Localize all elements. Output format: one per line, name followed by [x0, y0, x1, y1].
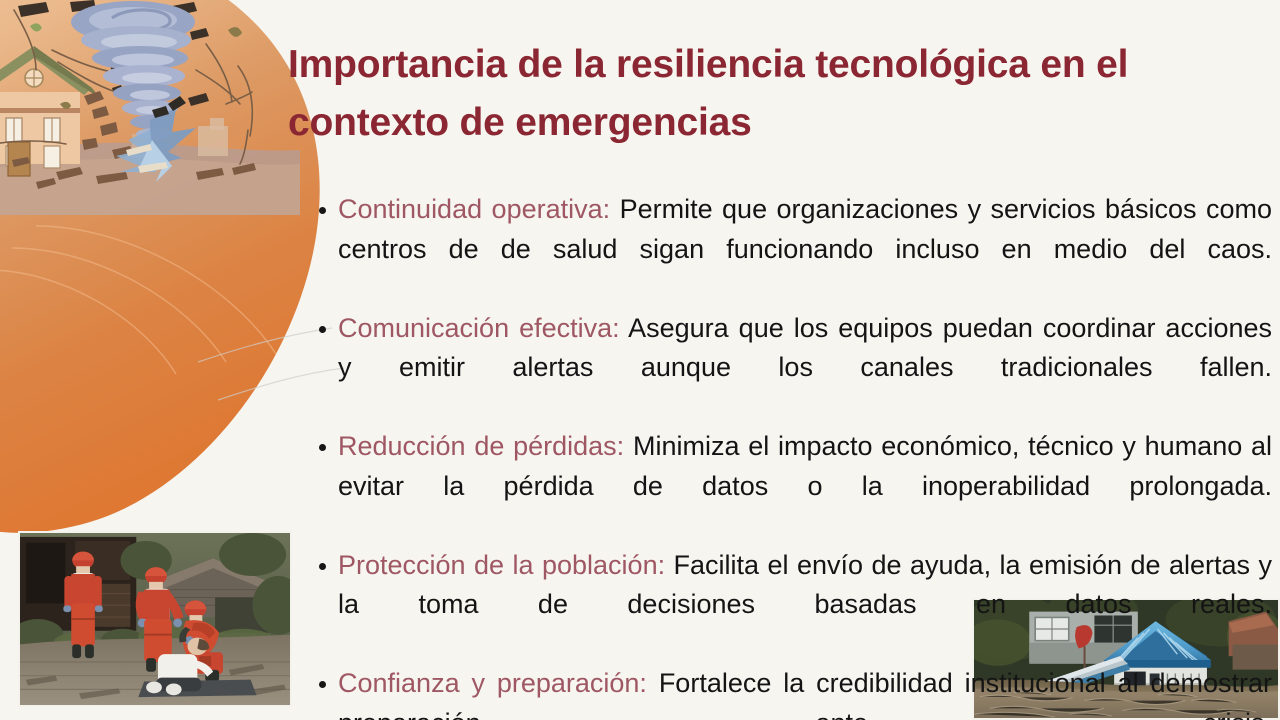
bullet-lead: Confianza y preparación:	[338, 668, 647, 698]
bullet-lead: Protección de la población:	[338, 550, 665, 580]
bullet-item: Protección de la población: Facilita el …	[316, 546, 1272, 665]
bullet-list: Continuidad operativa: Permite que organ…	[316, 190, 1272, 720]
bullet-lead: Reducción de pérdidas:	[338, 431, 624, 461]
presentation-slide: Importancia de la resiliencia tecnológic…	[0, 0, 1280, 720]
bullet-item: Comunicación efectiva: Asegura que los e…	[316, 309, 1272, 428]
bullet-lead: Comunicación efectiva:	[338, 313, 620, 343]
bullet-item: Continuidad operativa: Permite que organ…	[316, 190, 1272, 309]
bullet-item: Confianza y preparación: Fortalece la cr…	[316, 664, 1272, 720]
slide-title: Importancia de la resiliencia tecnológic…	[288, 36, 1268, 152]
tornado-destroying-house-illustration	[0, 0, 300, 215]
bullet-lead: Continuidad operativa:	[338, 194, 610, 224]
bullet-item: Reducción de pérdidas: Minimiza el impac…	[316, 427, 1272, 546]
rescue-team-helping-survivor-photo	[18, 531, 292, 707]
